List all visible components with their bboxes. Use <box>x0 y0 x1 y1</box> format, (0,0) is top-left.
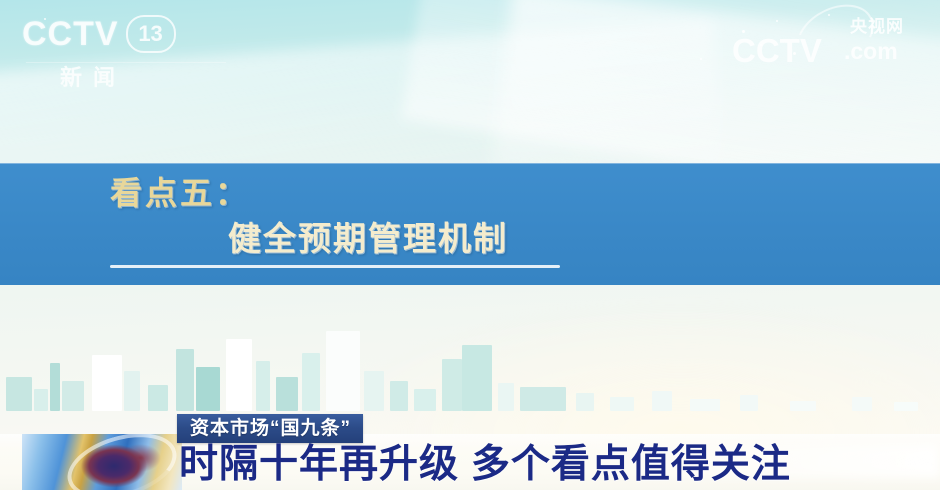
channel-bug-divider <box>26 62 226 63</box>
city-building <box>852 397 872 411</box>
city-building <box>894 402 918 411</box>
city-building <box>364 371 384 411</box>
city-building <box>124 371 140 411</box>
banner-underline <box>110 265 560 268</box>
channel-name-chinese: 新闻 <box>22 60 232 92</box>
cctv-wordmark: CCTV <box>22 17 119 51</box>
city-building <box>462 345 492 411</box>
city-building <box>790 401 816 411</box>
city-building <box>196 367 220 411</box>
city-building <box>6 377 32 411</box>
cityscape-silhouette <box>0 291 940 411</box>
city-building <box>442 359 462 411</box>
channel-number-badge: 13 <box>126 15 176 53</box>
sparkle-dot <box>700 58 702 60</box>
city-building <box>50 363 60 411</box>
city-building <box>302 353 320 411</box>
cctv-com-watermark: 央视网 CCTV .com <box>732 14 922 74</box>
city-building <box>92 355 122 411</box>
city-building <box>576 393 594 411</box>
news-headline: 时隔十年再升级 多个看点值得关注 <box>179 443 791 487</box>
watermark-domain-suffix: .com <box>844 40 898 63</box>
city-building <box>414 389 436 411</box>
city-building <box>326 331 360 411</box>
topic-tag: 资本市场“国九条” <box>177 414 363 443</box>
city-building <box>390 381 408 411</box>
city-building <box>520 387 566 411</box>
city-building <box>740 395 758 411</box>
city-building <box>256 361 270 411</box>
city-building <box>62 381 84 411</box>
cctv-13-channel-bug: CCTV 13 新闻 <box>22 14 232 86</box>
banner-heading-line1: 看点五： <box>110 173 250 213</box>
city-building <box>34 389 48 411</box>
city-building <box>226 339 252 411</box>
broadcast-frame: CCTV 13 新闻 央视网 CCTV .com 看点五： 健全预期管理机制 资… <box>0 0 940 490</box>
city-building <box>276 377 298 411</box>
channel-bug-top-row: CCTV 13 <box>22 14 232 54</box>
city-building <box>148 385 168 411</box>
topic-tag-label: 资本市场“国九条” <box>190 419 351 438</box>
city-building <box>498 383 514 411</box>
watermark-wordmark: CCTV <box>732 34 822 67</box>
city-building <box>690 399 720 411</box>
globe-ribbon-graphic <box>22 434 182 490</box>
highlight-banner: 看点五： 健全预期管理机制 <box>0 163 940 285</box>
city-building <box>610 397 634 411</box>
channel-number: 13 <box>138 23 162 45</box>
city-building <box>652 391 672 411</box>
banner-heading-line2: 健全预期管理机制 <box>228 219 508 259</box>
city-building <box>176 349 194 411</box>
watermark-chinese: 央视网 <box>850 18 904 35</box>
